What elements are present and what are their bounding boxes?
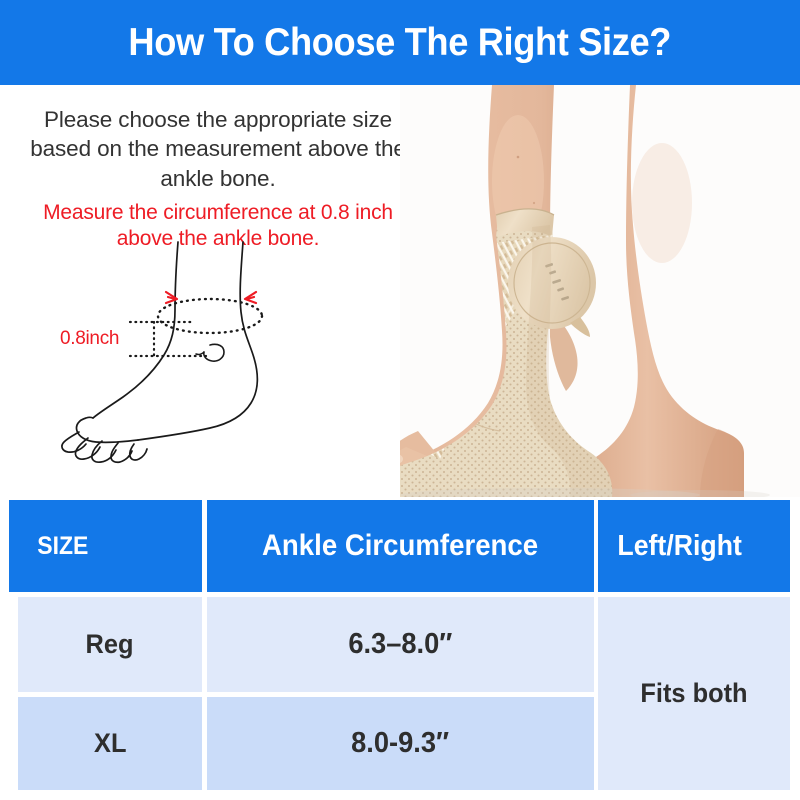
table-header-size-label: SIZE bbox=[37, 532, 88, 561]
table-row: Reg bbox=[18, 597, 202, 692]
table-row: XL bbox=[18, 697, 202, 790]
instruction-text-primary: Please choose the appropriate size based… bbox=[14, 105, 422, 193]
table-header-size: SIZE bbox=[9, 500, 202, 592]
page-header-banner: How To Choose The Right Size? bbox=[0, 0, 800, 85]
size-chart-table: SIZE Ankle Circumference Left/Right Reg … bbox=[9, 500, 790, 790]
table-header-circumference: Ankle Circumference bbox=[207, 500, 594, 592]
table-header-left-right: Left/Right bbox=[598, 500, 790, 592]
page-title: How To Choose The Right Size? bbox=[129, 21, 672, 65]
measurement-offset-bracket bbox=[130, 322, 206, 356]
ankle-measurement-diagram: 0.8inch bbox=[38, 240, 338, 490]
cell-circumference-xl: 8.0-9.3″ bbox=[352, 727, 450, 760]
instructions-column: Please choose the appropriate size based… bbox=[0, 85, 430, 497]
measure-direction-arrows bbox=[166, 292, 256, 303]
content-area: Please choose the appropriate size based… bbox=[0, 85, 800, 497]
cell-size-xl: XL bbox=[94, 728, 126, 759]
table-row: 6.3–8.0″ bbox=[207, 597, 594, 692]
table-header-circumference-label: Ankle Circumference bbox=[262, 529, 538, 563]
product-photo bbox=[400, 85, 800, 497]
table-header-left-right-label: Left/Right bbox=[617, 530, 741, 563]
cell-left-right-merged: Fits both bbox=[598, 597, 790, 790]
cell-circumference-reg: 6.3–8.0″ bbox=[348, 628, 452, 661]
table-row: 8.0-9.3″ bbox=[207, 697, 594, 790]
cell-left-right-value: Fits both bbox=[640, 678, 747, 709]
measurement-offset-label: 0.8inch bbox=[60, 328, 119, 350]
ankle-brace-product-image bbox=[400, 85, 800, 497]
cell-size-reg: Reg bbox=[86, 629, 134, 660]
foot-outline-illustration bbox=[38, 240, 338, 490]
